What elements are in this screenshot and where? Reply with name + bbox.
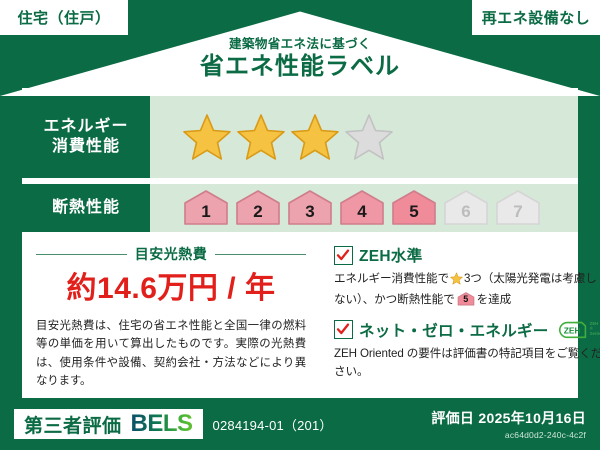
zeh-standard-heading: ZEH水準	[334, 244, 600, 266]
bels-badge: 第三者評価 BELS	[14, 409, 203, 439]
zeh-body-part3: を達成	[477, 293, 511, 306]
zeh-net-zero-body: ZEH Oriented の要件は評価書の特記項目をご覧ください。	[334, 345, 600, 382]
evaluation-info: 評価日 2025年10月16日 ac64d0d2-240c-4c2f	[431, 408, 586, 440]
evaluation-hash: ac64d0d2-240c-4c2f	[431, 430, 586, 440]
insulation-level-scale: 1 2 3 4 5	[150, 189, 542, 227]
zeh-house-icon: ZEH	[557, 319, 588, 341]
star-rating	[150, 112, 394, 162]
utility-cost-heading-text: 目安光熱費	[135, 244, 208, 264]
zeh-standard-block: ZEH水準 エネルギー消費性能で3つ（太陽光発電は考慮しない）、かつ断熱性能で5…	[334, 244, 600, 310]
zeh-net-zero-block: ネット・ゼロ・エネルギー ZEH ZEH ® Series	[334, 319, 600, 382]
third-party-evaluation-text: 第三者評価	[24, 411, 122, 438]
zeh-logo-sub-line2: ® Series	[590, 326, 600, 336]
zeh-standard-title: ZEH水準	[359, 244, 423, 266]
checkbox-zeh-net-zero[interactable]	[334, 320, 353, 339]
label-title: 省エネ性能ラベル	[0, 54, 600, 80]
heading-rule-right	[215, 254, 306, 255]
insulation-level-7-value: 7	[513, 203, 522, 227]
title-block: 建築物省エネ法に基づく 省エネ性能ラベル	[0, 38, 600, 80]
star-icon-filled-2	[236, 112, 286, 162]
details-section: 目安光熱費 約14.6万円 / 年 目安光熱費は、住宅の省エネ性能と全国一律の燃…	[22, 232, 578, 394]
inline-house-badge: 5	[457, 291, 475, 307]
insulation-performance-row: 断熱性能 1 2 3	[22, 184, 578, 232]
insulation-level-4: 4	[338, 189, 386, 227]
building-type-tag: 住宅（住戸）	[0, 0, 128, 35]
check-icon	[336, 322, 350, 336]
insulation-level-5-value: 5	[409, 203, 418, 227]
utility-cost-panel: 目安光熱費 約14.6万円 / 年 目安光熱費は、住宅の省エネ性能と全国一律の燃…	[22, 232, 320, 394]
utility-cost-heading: 目安光熱費	[36, 244, 306, 264]
renewable-equipment-tag: 再エネ設備なし	[472, 0, 600, 35]
energy-performance-label: エネルギー 消費性能	[22, 96, 150, 178]
checkbox-zeh-standard[interactable]	[334, 246, 353, 265]
energy-performance-value	[150, 96, 578, 178]
zeh-panel: ZEH水準 エネルギー消費性能で3つ（太陽光発電は考慮しない）、かつ断熱性能で5…	[320, 232, 600, 394]
insulation-level-4-value: 4	[357, 203, 366, 227]
main-card: エネルギー 消費性能 断熱性能 1	[22, 88, 578, 398]
insulation-level-3-value: 3	[305, 203, 314, 227]
certificate-number: 0284194-01（201）	[213, 415, 333, 434]
insulation-level-6-value: 6	[461, 203, 470, 227]
energy-label-line1: エネルギー	[43, 117, 128, 137]
inline-house-level: 5	[457, 291, 475, 307]
inline-star-icon	[450, 272, 463, 291]
star-icon-empty-4	[344, 112, 394, 162]
utility-cost-note: 目安光熱費は、住宅の省エネ性能と全国一律の燃料等の単価を用いて算出したものです。…	[36, 317, 306, 391]
bels-logo-text: BELS	[131, 412, 193, 436]
insulation-level-1: 1	[182, 189, 230, 227]
zeh-net-zero-heading: ネット・ゼロ・エネルギー ZEH ZEH ® Series	[334, 319, 600, 341]
energy-performance-row: エネルギー 消費性能	[22, 96, 578, 178]
zeh-logo-subtext: ZEH ® Series	[590, 322, 600, 336]
zeh-standard-body: エネルギー消費性能で3つ（太陽光発電は考慮しない）、かつ断熱性能で5を達成	[334, 270, 600, 310]
zeh-body-part1: エネルギー消費性能で	[334, 272, 449, 285]
heading-rule-left	[36, 254, 127, 255]
star-icon-filled-3	[290, 112, 340, 162]
check-icon	[336, 248, 350, 262]
insulation-level-7: 7	[494, 189, 542, 227]
insulation-level-1-value: 1	[201, 203, 210, 227]
insulation-level-2: 2	[234, 189, 282, 227]
insulation-level-3: 3	[286, 189, 334, 227]
zeh-net-zero-title: ネット・ゼロ・エネルギー	[359, 319, 549, 341]
insulation-performance-label: 断熱性能	[22, 184, 150, 232]
insulation-level-5: 5	[390, 189, 438, 227]
star-icon-filled-1	[182, 112, 232, 162]
insulation-performance-value: 1 2 3 4 5	[150, 184, 578, 232]
label-subtitle: 建築物省エネ法に基づく	[0, 38, 600, 52]
footer: 第三者評価 BELS 0284194-01（201） 評価日 2025年10月1…	[0, 398, 600, 450]
svg-text:ZEH: ZEH	[563, 325, 580, 335]
evaluation-date: 評価日 2025年10月16日	[431, 408, 586, 428]
insulation-level-2-value: 2	[253, 203, 262, 227]
energy-performance-label: 住宅（住戸） 再エネ設備なし 建築物省エネ法に基づく 省エネ性能ラベル エネルギ…	[0, 0, 600, 450]
insulation-level-6: 6	[442, 189, 490, 227]
energy-label-line2: 消費性能	[52, 137, 120, 157]
utility-cost-amount: 約14.6万円 / 年	[36, 272, 306, 305]
zeh-logo: ZEH ZEH ® Series	[557, 319, 600, 341]
